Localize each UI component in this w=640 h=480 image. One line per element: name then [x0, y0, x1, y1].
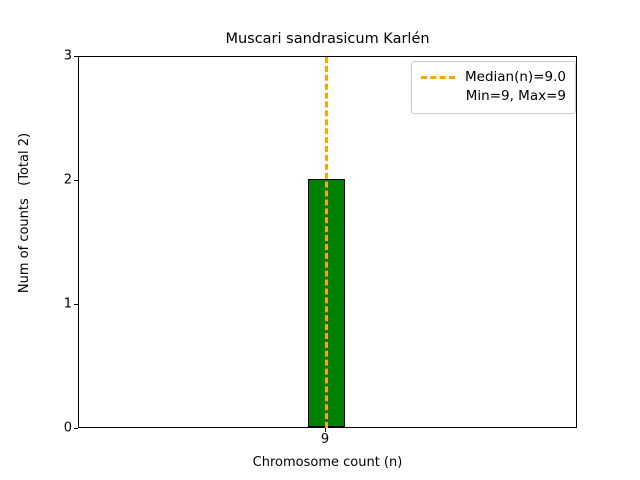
median-line — [325, 57, 328, 428]
legend-label-minmax: Min=9, Max=9 — [466, 87, 566, 106]
page-title: Muscari sandrasicum Karlén — [78, 30, 577, 48]
y-tick-label-0: 0 — [0, 422, 72, 435]
y-tick-mark-0 — [74, 428, 78, 429]
x-tick-label-9: 9 — [321, 433, 329, 446]
x-axis-label: Chromosome count (n) — [78, 455, 577, 470]
legend-item-minmax: Min=9, Max=9 — [421, 87, 566, 106]
y-tick-label-3: 3 — [0, 50, 72, 63]
legend: Median(n)=9.0 Min=9, Max=9 — [411, 61, 576, 114]
dashed-line-icon — [421, 76, 455, 79]
y-tick-label-1: 1 — [0, 298, 72, 311]
legend-item-median: Median(n)=9.0 — [421, 68, 566, 87]
y-axis-label: Num of counts (Total 2) — [18, 27, 32, 399]
legend-label-median: Median(n)=9.0 — [465, 68, 566, 87]
y-tick-label-2: 2 — [0, 174, 72, 187]
chart-figure: Muscari sandrasicum Karlén 0 1 2 3 Num o… — [0, 0, 640, 480]
